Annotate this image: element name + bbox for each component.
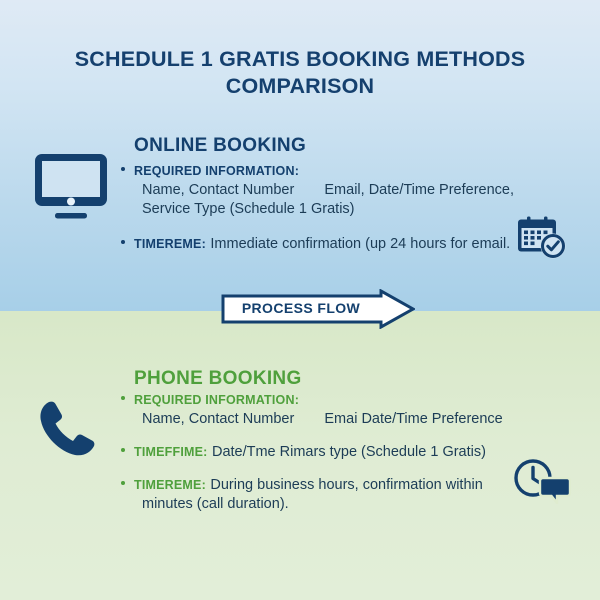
list-item: TIMEREME: During business hours, confirm…: [118, 476, 518, 513]
list-item: REQUIRED INFORMATION: Name, Contact Numb…: [118, 391, 518, 428]
bullet-label: TIMEREME:: [134, 478, 206, 492]
bullet-dot-icon: [121, 167, 125, 171]
bullet-dot-icon: [121, 240, 125, 244]
bullet-body-line-2: Service Type (Schedule 1 Gratis): [142, 200, 518, 218]
bullet-dot-icon: [121, 481, 125, 485]
phone-booking-bullets: REQUIRED INFORMATION: Name, Contact Numb…: [118, 391, 518, 517]
required-info-email: Email, Date/Time Preference,: [324, 182, 514, 198]
bullet-body: Immediate confirmation (up 24 hours for …: [210, 236, 510, 252]
process-flow-arrow: PROCESS FLOW: [221, 289, 415, 329]
bullet-body: Date/Tme Rimars type (Schedule 1 Gratis): [212, 444, 486, 460]
bullet-label: REQUIRED INFORMATION:: [134, 393, 299, 407]
infographic-canvas: SCHEDULE 1 GRATIS BOOKING METHODS COMPAR…: [0, 0, 600, 600]
required-info-names: Name, Contact Number: [142, 182, 294, 198]
phone-booking-heading: PHONE BOOKING: [134, 368, 302, 390]
online-booking-heading: ONLINE BOOKING: [134, 135, 306, 157]
online-booking-bullets: REQUIRED INFORMATION: Name, Contact Numb…: [118, 162, 518, 257]
bullet-body-line-1: Name, Contact Number Email, Date/Time Pr…: [142, 181, 518, 199]
bullet-body-line-2: minutes (call duration).: [142, 495, 518, 513]
bullet-body-line-1: Name, Contact Number Emai Date/Time Pref…: [142, 410, 518, 428]
phone-handset-icon: [36, 396, 100, 465]
page-title: SCHEDULE 1 GRATIS BOOKING METHODS COMPAR…: [60, 46, 540, 100]
bullet-body-line-1: During business hours, confirmation with…: [210, 477, 482, 493]
required-info-email: Emai Date/Time Preference: [324, 411, 502, 427]
bullet-label: REQUIRED INFORMATION:: [134, 164, 299, 178]
clock-chat-icon: [513, 458, 571, 509]
list-item: TIMEFFIME: Date/Tme Rimars type (Schedul…: [118, 443, 518, 461]
process-flow-label: PROCESS FLOW: [221, 300, 381, 316]
required-info-names: Name, Contact Number: [142, 411, 294, 427]
bullet-dot-icon: [121, 396, 125, 400]
list-item: TIMEREME: Immediate confirmation (up 24 …: [118, 235, 518, 253]
bullet-label: TIMEREME:: [134, 237, 206, 251]
bullet-dot-icon: [121, 448, 125, 452]
monitor-icon: [33, 152, 109, 225]
calendar-check-icon: [516, 214, 570, 267]
list-item: REQUIRED INFORMATION: Name, Contact Numb…: [118, 162, 518, 218]
bullet-label: TIMEFFIME:: [134, 445, 208, 459]
